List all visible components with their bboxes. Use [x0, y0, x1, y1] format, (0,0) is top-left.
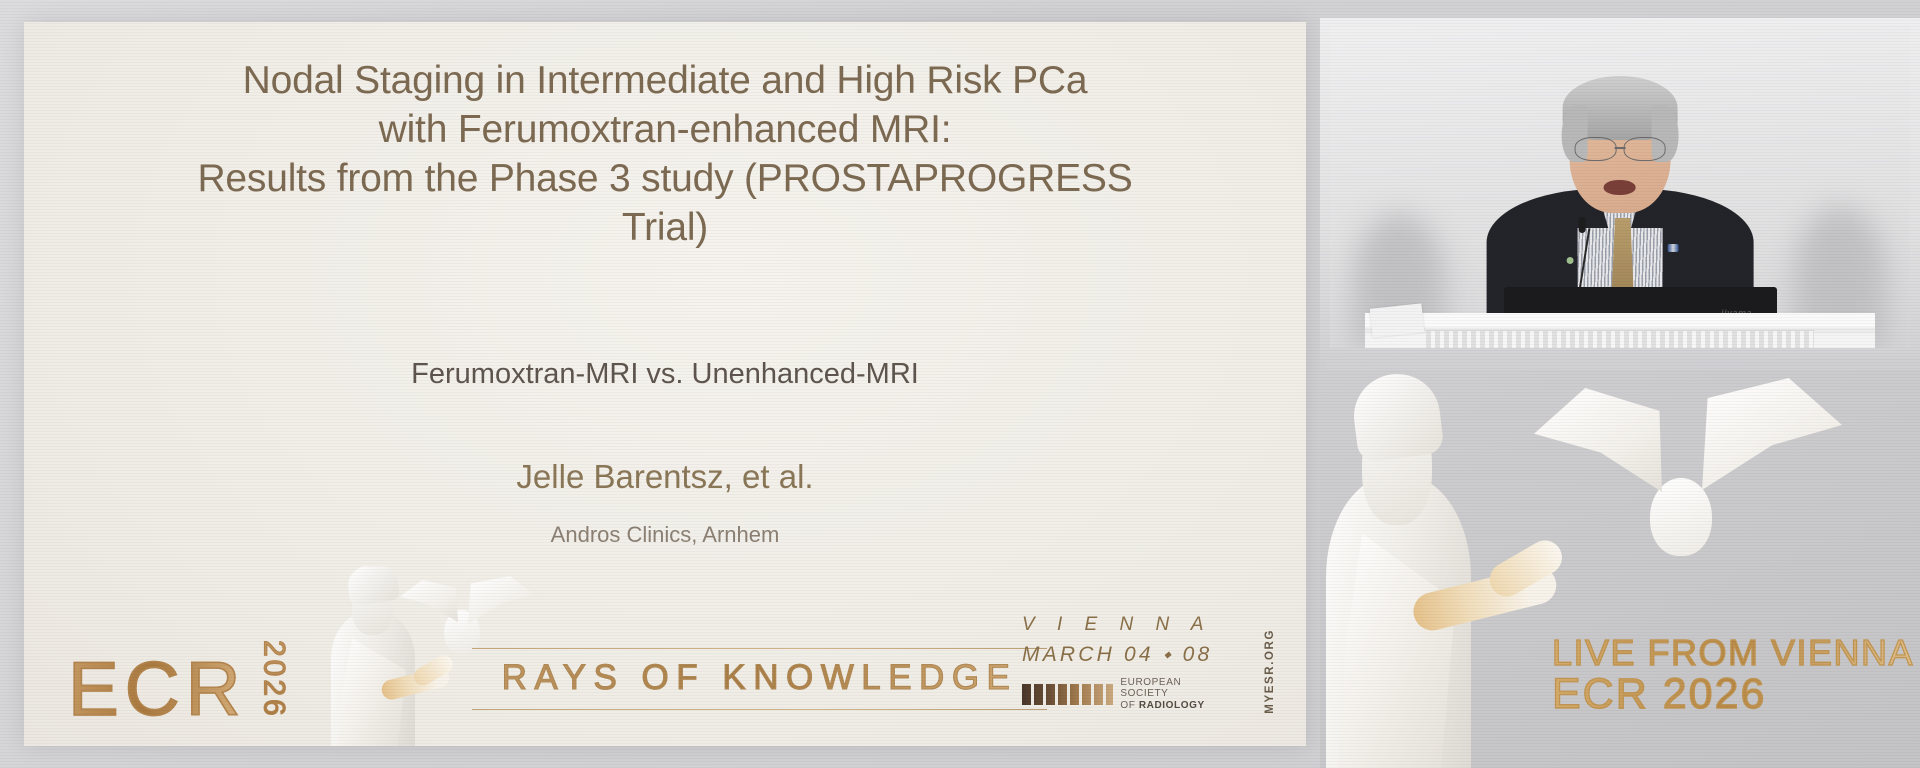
slide-title-line-2: with Ferumoxtran-enhanced MRI: — [84, 105, 1246, 154]
speaker-glasses-icon — [1575, 137, 1666, 159]
slide-title-line-1: Nodal Staging in Intermediate and High R… — [84, 56, 1246, 105]
slide-subtitle: Ferumoxtran-MRI vs. Unenhanced-MRI — [84, 358, 1246, 391]
esr-logo-text: EUROPEAN SOCIETY OF RADIOLOGY — [1120, 677, 1232, 712]
live-from-vienna-text: LIVE FROM VIENNA ECR 2026 — [1552, 635, 1914, 716]
esr-line-2-strong: RADIOLOGY — [1139, 700, 1205, 711]
live-branding-panel: LIVE FROM VIENNA ECR 2026 — [1320, 370, 1920, 768]
speaker-video-panel[interactable]: iiyama — [1320, 18, 1920, 358]
banner-rule-top — [472, 648, 1047, 649]
screen-root: Nodal Staging in Intermediate and High R… — [0, 0, 1920, 768]
lectern-grill — [1426, 330, 1814, 348]
banner-rule-bottom — [472, 709, 1047, 710]
slide-affiliation: Andros Clinics, Arnhem — [84, 522, 1246, 548]
slide-author: Jelle Barentsz, et al. — [84, 458, 1246, 496]
vienna-city-label: V I E N N A — [1022, 614, 1232, 636]
microphone-head-icon — [1579, 217, 1586, 233]
athena-statue-graphic — [1320, 374, 1570, 768]
video-frame: iiyama — [1330, 26, 1910, 348]
esr-mark-icon — [1022, 684, 1113, 705]
ecr-logo-letters: ECR — [68, 657, 246, 722]
ecr-logo-year: 2026 — [256, 640, 290, 719]
slide-footer: ECR 2026 — [24, 566, 1306, 746]
ecr-logo: ECR 2026 — [68, 643, 290, 722]
slide-title-line-3: Results from the Phase 3 study (PROSTAPR… — [84, 154, 1246, 203]
slide-title-line-4: Trial) — [84, 203, 1246, 252]
vienna-info-block: V I E N N A MARCH 04 ⬩ 08 EUROPEAN SOCIE… — [1022, 614, 1232, 712]
speaker-mouth — [1604, 180, 1636, 195]
slide-title: Nodal Staging in Intermediate and High R… — [84, 56, 1246, 253]
esr-line-1: EUROPEAN SOCIETY — [1120, 677, 1181, 700]
lectern-paper — [1369, 304, 1424, 338]
myesr-website-label: MYESR.ORG — [1264, 629, 1276, 714]
speaker-figure — [1487, 71, 1754, 316]
live-line-2: ECR 2026 — [1552, 673, 1914, 716]
congress-dates: MARCH 04 ⬩ 08 — [1022, 643, 1232, 667]
owl-wing-right-graphic — [1702, 378, 1842, 490]
presentation-slide: Nodal Staging in Intermediate and High R… — [24, 22, 1306, 746]
rays-of-knowledge-banner: RAYS OF KNOWLEDGE — [472, 648, 1047, 710]
owl-wing-right-icon — [468, 576, 534, 624]
live-line-1: LIVE FROM VIENNA — [1552, 632, 1914, 673]
rays-of-knowledge-text: RAYS OF KNOWLEDGE — [472, 649, 1047, 709]
esr-line-2-prefix: OF — [1120, 700, 1138, 711]
lapel-flag-pin — [1668, 244, 1679, 252]
esr-logo: EUROPEAN SOCIETY OF RADIOLOGY — [1022, 677, 1232, 712]
lectern — [1365, 313, 1875, 348]
